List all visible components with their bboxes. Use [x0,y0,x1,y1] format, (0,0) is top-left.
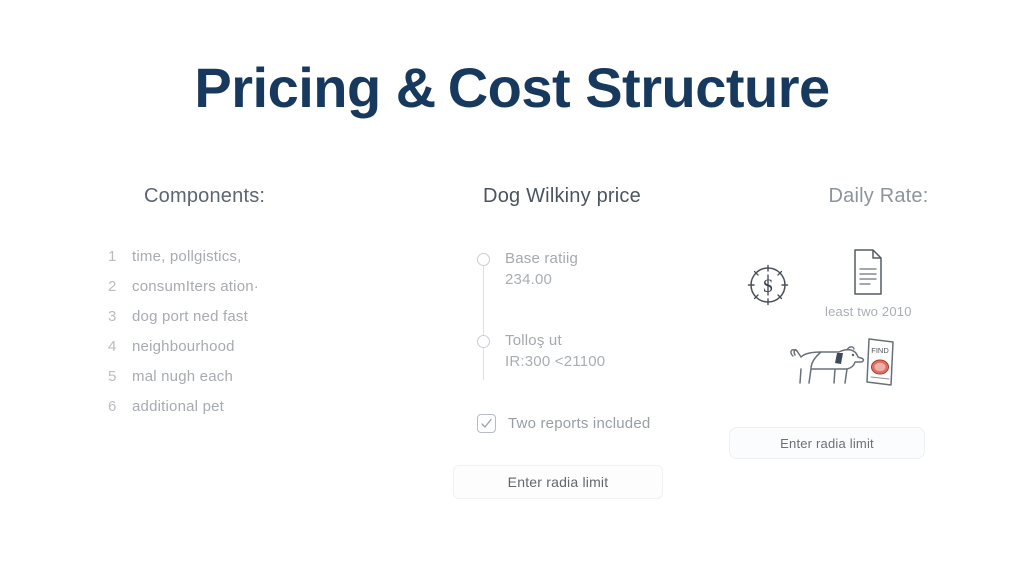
price-option-label: Tolloş ut [505,332,727,349]
radio-circle-icon[interactable] [477,335,490,348]
list-item[interactable]: 4 neighbourhood [108,338,405,368]
page-title: Pricing &Cost Structure [0,55,1024,120]
daily-rate-icon-row: S [745,248,1024,319]
list-item[interactable]: 6 additional pet [108,398,405,428]
dollar-coin-icon: S [745,262,791,308]
daily-rate-body: S [727,248,1024,488]
components-list: 1 time, pollgistics, 2 consumIters ation… [108,248,405,428]
price-options-timeline: Base ratiig 234.00 Tolloş ut IR:300 <211… [477,250,727,370]
enter-radia-limit-button-middle[interactable]: Enter radia limit [453,465,663,499]
document-group: least two 2010 [825,248,912,319]
daily-rate-heading: Daily Rate: [733,185,1024,208]
content-columns: Components: 1 time, pollgistics, 2 consu… [0,185,1024,525]
timeline-rail [483,258,484,380]
list-item[interactable]: 2 consumIters ation· [108,278,405,308]
slide-canvas: Pricing &Cost Structure Components: 1 ti… [0,0,1024,585]
dog-walking-price-heading: Dog Wilkiny price [405,185,719,208]
list-item[interactable]: 5 mal nugh each [108,368,405,398]
components-heading: Components: [144,185,405,208]
list-item-label: neighbourhood [132,338,235,355]
dog-with-poster-icon: FIND [785,331,1024,393]
enter-radia-limit-label: Enter radia limit [780,436,874,451]
price-option-label: Base ratiig [505,250,727,267]
svg-text:FIND: FIND [871,346,889,355]
document-icon [849,248,887,296]
list-item[interactable]: 3 dog port ned fast [108,308,405,338]
list-item-index: 1 [108,248,118,265]
list-item-index: 2 [108,278,118,295]
price-option-value: 234.00 [505,271,727,288]
list-item-label: consumIters ation· [132,278,259,295]
two-reports-label: Two reports included [508,415,650,432]
list-item-label: mal nugh each [132,368,233,385]
list-item-label: additional pet [132,398,224,415]
list-item-label: time, pollgistics, [132,248,241,265]
list-item-index: 6 [108,398,118,415]
column-components: Components: 1 time, pollgistics, 2 consu… [0,185,405,525]
price-option-value: IR:300 <21100 [505,353,727,370]
enter-radia-limit-label: Enter radia limit [508,474,609,490]
price-option-tollos-ut[interactable]: Tolloş ut IR:300 <21100 [505,332,727,370]
price-option-base-rating[interactable]: Base ratiig 234.00 [505,250,727,288]
price-options-panel: Base ratiig 234.00 Tolloş ut IR:300 <211… [477,250,727,499]
column-dog-walking-price: Dog Wilkiny price Base ratiig 234.00 Tol… [405,185,727,525]
list-item-index: 4 [108,338,118,355]
radio-circle-icon[interactable] [477,253,490,266]
document-caption: least two 2010 [825,304,912,319]
two-reports-checkbox-row[interactable]: Two reports included [477,414,727,433]
check-icon[interactable] [477,414,496,433]
enter-radia-limit-button-right[interactable]: Enter radia limit [729,427,925,459]
list-item[interactable]: 1 time, pollgistics, [108,248,405,278]
list-item-index: 3 [108,308,118,325]
page-title-part2: Cost Structure [448,56,830,119]
list-item-label: dog port ned fast [132,308,248,325]
column-daily-rate: Daily Rate: [727,185,1024,525]
list-item-index: 5 [108,368,118,385]
page-title-part1: Pricing & [194,56,435,119]
